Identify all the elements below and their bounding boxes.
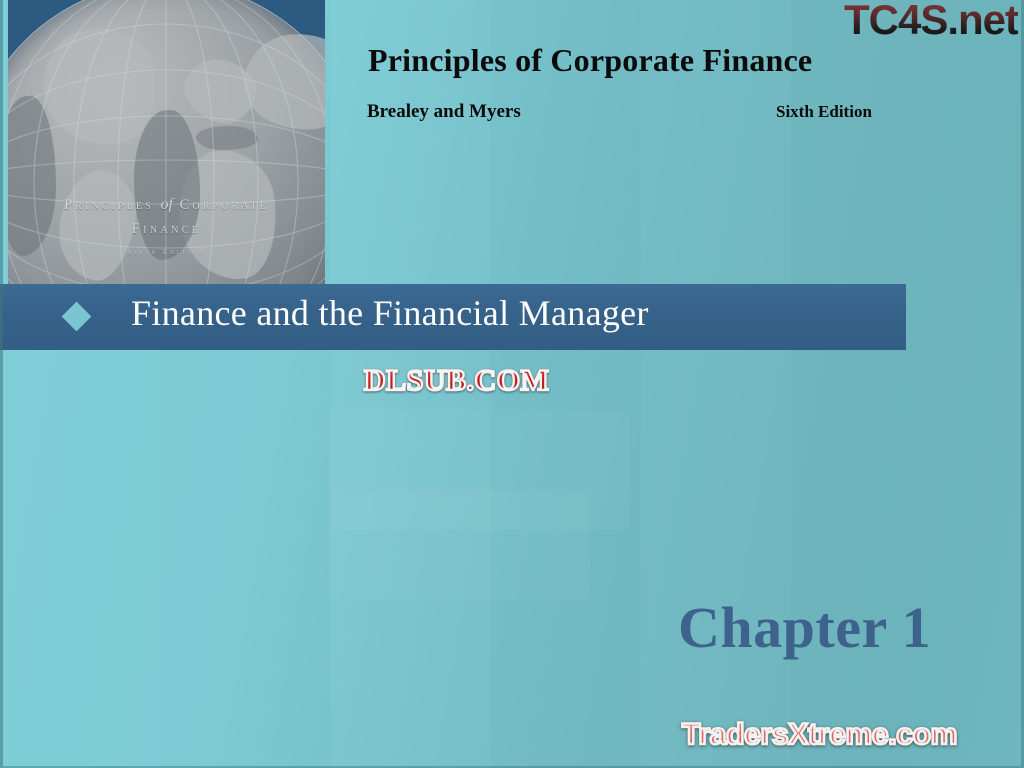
diamond-bullet-icon: [62, 302, 92, 332]
deck-title: Principles of Corporate Finance: [368, 42, 812, 79]
chapter-label: Chapter 1: [678, 594, 931, 661]
watermark-dlsub: DLSUB.COM: [364, 364, 549, 398]
globe-limb-highlight: [8, 0, 325, 284]
slide-title-banner: Finance and the Financial Manager: [0, 284, 906, 350]
book-cover-image: Principles of Corporate Finance Sixth Ed…: [8, 0, 325, 284]
watermark-tc4s: TC4S.net: [844, 0, 1018, 44]
authors-label: Brealey and Myers: [367, 101, 521, 123]
background-block-artifact-secondary: [330, 490, 590, 600]
watermark-tradersxtreme: TradersXtreme.com: [682, 718, 957, 752]
slide-title: Finance and the Financial Manager: [131, 292, 649, 334]
edition-label: Sixth Edition: [776, 102, 872, 122]
background-block-artifact: [330, 410, 630, 530]
presentation-slide: Principles of Corporate Finance Sixth Ed…: [0, 0, 1024, 768]
